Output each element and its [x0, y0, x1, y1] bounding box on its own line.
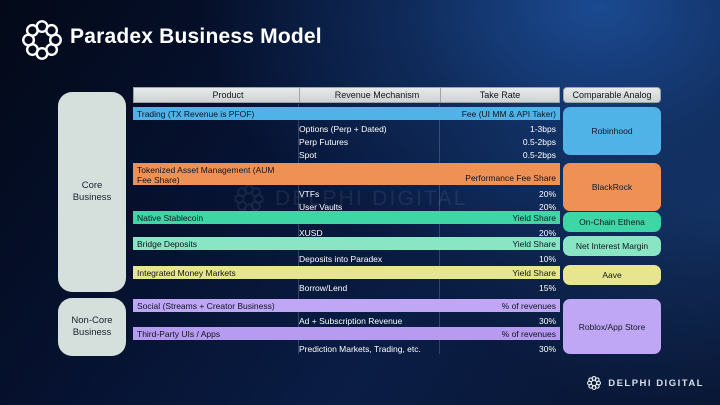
take-rate-value: Fee (UI MM & API Taker)	[462, 109, 556, 119]
slide-root: Paradex Business Model DELPHI DIGITAL Co…	[0, 0, 720, 405]
product-label: Native Stablecoin	[137, 213, 203, 223]
category-non-core-business-label: Non-CoreBusiness	[71, 315, 112, 339]
take-rate-value: % of revenues	[502, 301, 556, 311]
comparable-analog-label: Robinhood	[591, 126, 632, 136]
product-bar[interactable]: Native StablecoinYield Share	[133, 211, 560, 224]
product-bar[interactable]: Social (Streams + Creator Business)% of …	[133, 299, 560, 312]
mechanism-label: XUSD	[299, 228, 323, 238]
product-bar[interactable]: Trading (TX Revenue is PFOF)Fee (UI MM &…	[133, 107, 560, 120]
take-rate-value: 15%	[539, 283, 556, 293]
take-rate-value: 30%	[539, 344, 556, 354]
take-rate-value: Yield Share	[512, 268, 556, 278]
take-rate-value: 10%	[539, 254, 556, 264]
column-header-take-rate: Take Rate	[440, 87, 560, 103]
take-rate-value: 0.5-2bps	[523, 137, 556, 147]
delphi-loop-icon	[586, 375, 602, 391]
product-label: Bridge Deposits	[137, 239, 197, 249]
comparable-analog-label: Net Interest Margin	[576, 241, 648, 251]
take-rate-value: 30%	[539, 316, 556, 326]
mechanism-label: Deposits into Paradex	[299, 254, 382, 264]
comparable-analog-box[interactable]: Roblox/App Store	[563, 299, 661, 354]
take-rate-value: 20%	[539, 228, 556, 238]
take-rate-value: % of revenues	[502, 329, 556, 339]
column-header-revenue-mechanism: Revenue Mechanism	[299, 87, 455, 103]
mechanism-label: Prediction Markets, Trading, etc.	[299, 344, 421, 354]
category-core-business-label: CoreBusiness	[73, 180, 112, 204]
column-header-product: Product	[133, 87, 323, 103]
column-header-comparable-analog: Comparable Analog	[563, 87, 661, 103]
product-bar[interactable]: Integrated Money MarketsYield Share	[133, 266, 560, 279]
footer-logo-text: DELPHI DIGITAL	[608, 378, 704, 389]
mechanism-row[interactable]: Ad + Subscription Revenue30%	[133, 314, 560, 327]
paradex-loop-icon	[18, 16, 66, 64]
page-title: Paradex Business Model	[70, 25, 322, 49]
mechanism-row[interactable]: Spot0.5-2bps	[133, 148, 560, 161]
comparable-analog-label: BlackRock	[592, 182, 632, 192]
take-rate-value: 0.5-2bps	[523, 150, 556, 160]
mechanism-label: Ad + Subscription Revenue	[299, 316, 402, 326]
mechanism-label: User Vaults	[299, 202, 342, 212]
mechanism-row[interactable]: Perp Futures0.5-2bps	[133, 135, 560, 148]
mechanism-label: Borrow/Lend	[299, 283, 347, 293]
product-label: Integrated Money Markets	[137, 268, 236, 278]
delphi-digital-footer-logo: DELPHI DIGITAL	[586, 375, 704, 391]
mechanism-row[interactable]: VTFs20%	[133, 187, 560, 200]
comparable-analog-label: On-Chain Ethena	[579, 217, 645, 227]
take-rate-value: Performance Fee Share	[465, 173, 556, 185]
product-bar[interactable]: Third-Party UIs / Apps% of revenues	[133, 327, 560, 340]
product-label: Tokenized Asset Management (AUMFee Share…	[137, 165, 337, 185]
product-label: Social (Streams + Creator Business)	[137, 301, 275, 311]
mechanism-label: Options (Perp + Dated)	[299, 124, 387, 134]
comparable-analog-box[interactable]: Robinhood	[563, 107, 661, 155]
mechanism-label: VTFs	[299, 189, 319, 199]
comparable-analog-box[interactable]: BlackRock	[563, 163, 661, 211]
mechanism-row[interactable]: Deposits into Paradex10%	[133, 252, 560, 265]
take-rate-value: 20%	[539, 202, 556, 212]
take-rate-value: Yield Share	[512, 213, 556, 223]
take-rate-value: 1-3bps	[530, 124, 556, 134]
category-core-business: CoreBusiness	[58, 92, 126, 292]
mechanism-row[interactable]: Options (Perp + Dated)1-3bps	[133, 122, 560, 135]
comparable-analog-box[interactable]: On-Chain Ethena	[563, 212, 661, 232]
product-label: Trading (TX Revenue is PFOF)	[137, 109, 254, 119]
take-rate-value: 20%	[539, 189, 556, 199]
take-rate-value: Yield Share	[512, 239, 556, 249]
category-non-core-business: Non-CoreBusiness	[58, 298, 126, 356]
mechanism-label: Spot	[299, 150, 317, 160]
comparable-analog-box[interactable]: Net Interest Margin	[563, 236, 661, 256]
comparable-analog-label: Roblox/App Store	[579, 322, 646, 332]
product-label: Third-Party UIs / Apps	[137, 329, 220, 339]
comparable-analog-box[interactable]: Aave	[563, 265, 661, 285]
mechanism-label: Perp Futures	[299, 137, 348, 147]
comparable-analog-label: Aave	[602, 270, 621, 280]
mechanism-row[interactable]: Prediction Markets, Trading, etc.30%	[133, 342, 560, 355]
mechanism-row[interactable]: Borrow/Lend15%	[133, 281, 560, 294]
product-bar[interactable]: Bridge DepositsYield Share	[133, 237, 560, 250]
product-bar[interactable]: Tokenized Asset Management (AUMFee Share…	[133, 163, 560, 185]
